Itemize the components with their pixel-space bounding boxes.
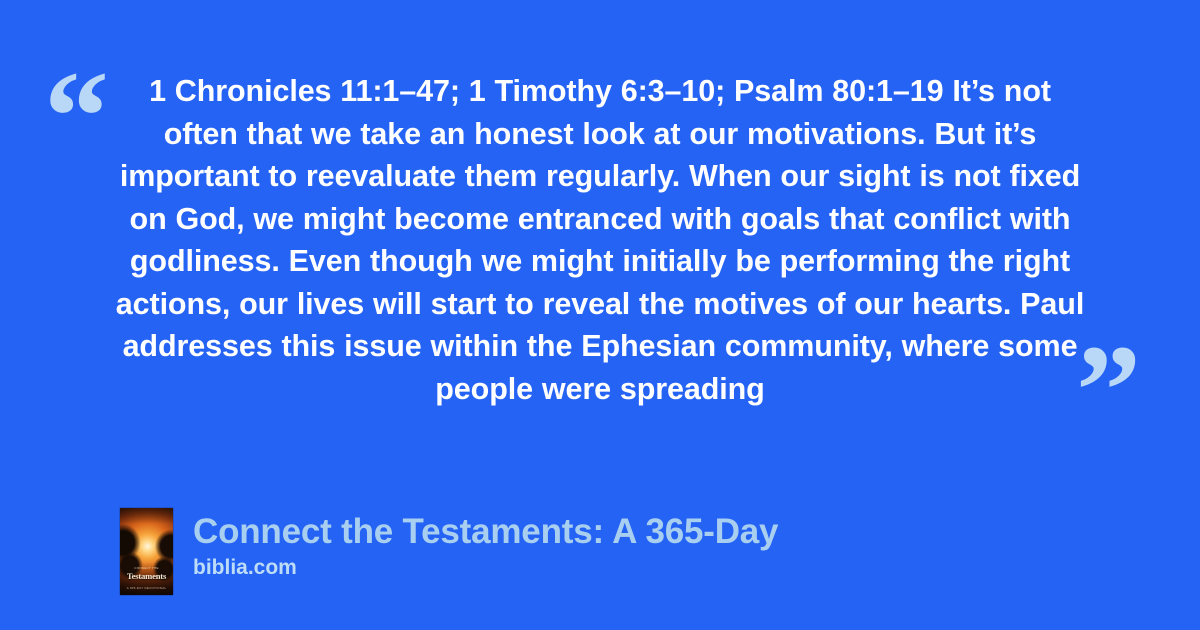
quote-block: “ 1 Chronicles 11:1–47; 1 Timothy 6:3–10… — [0, 46, 1200, 426]
close-quote-icon: ” — [1076, 326, 1139, 456]
source-title: Connect the Testaments: A 365-Day — [193, 511, 1120, 553]
source-text-group: Connect the Testaments: A 365-Day biblia… — [173, 508, 1120, 581]
book-cover-artwork — [120, 508, 173, 595]
book-cover-thumbnail[interactable]: CONNECT THE Testaments A 365-DAY DEVOTIO… — [120, 508, 173, 595]
open-quote-icon: “ — [44, 52, 107, 182]
book-cover-title-text: Testaments — [120, 571, 173, 581]
book-cover-eyebrow-text: CONNECT THE — [120, 566, 173, 570]
quote-text: 1 Chronicles 11:1–47; 1 Timothy 6:3–10; … — [110, 70, 1090, 410]
quote-card: “ 1 Chronicles 11:1–47; 1 Timothy 6:3–10… — [0, 0, 1200, 630]
source-domain[interactable]: biblia.com — [193, 555, 1120, 581]
source-footer: CONNECT THE Testaments A 365-DAY DEVOTIO… — [120, 508, 1120, 600]
book-cover-author-text: A 365-DAY DEVOTIONAL — [120, 586, 173, 590]
